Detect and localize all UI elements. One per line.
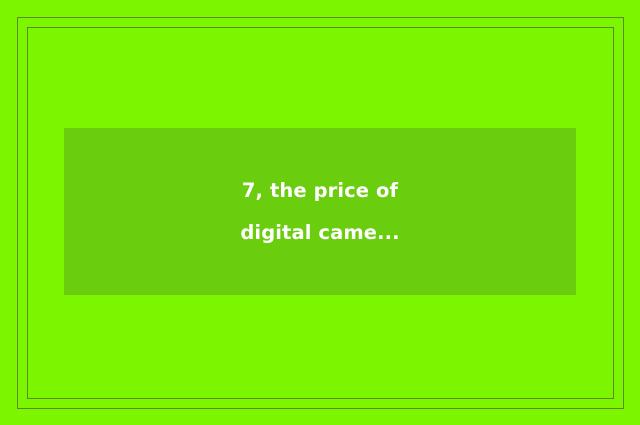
quote-card-canvas: 7, the price of digital came... [0, 0, 640, 425]
quote-line-1: 7, the price of [240, 170, 399, 212]
quote-panel: 7, the price of digital came... [64, 128, 576, 295]
quote-line-2: digital came... [240, 212, 399, 254]
quote-text-block: 7, the price of digital came... [240, 170, 399, 254]
